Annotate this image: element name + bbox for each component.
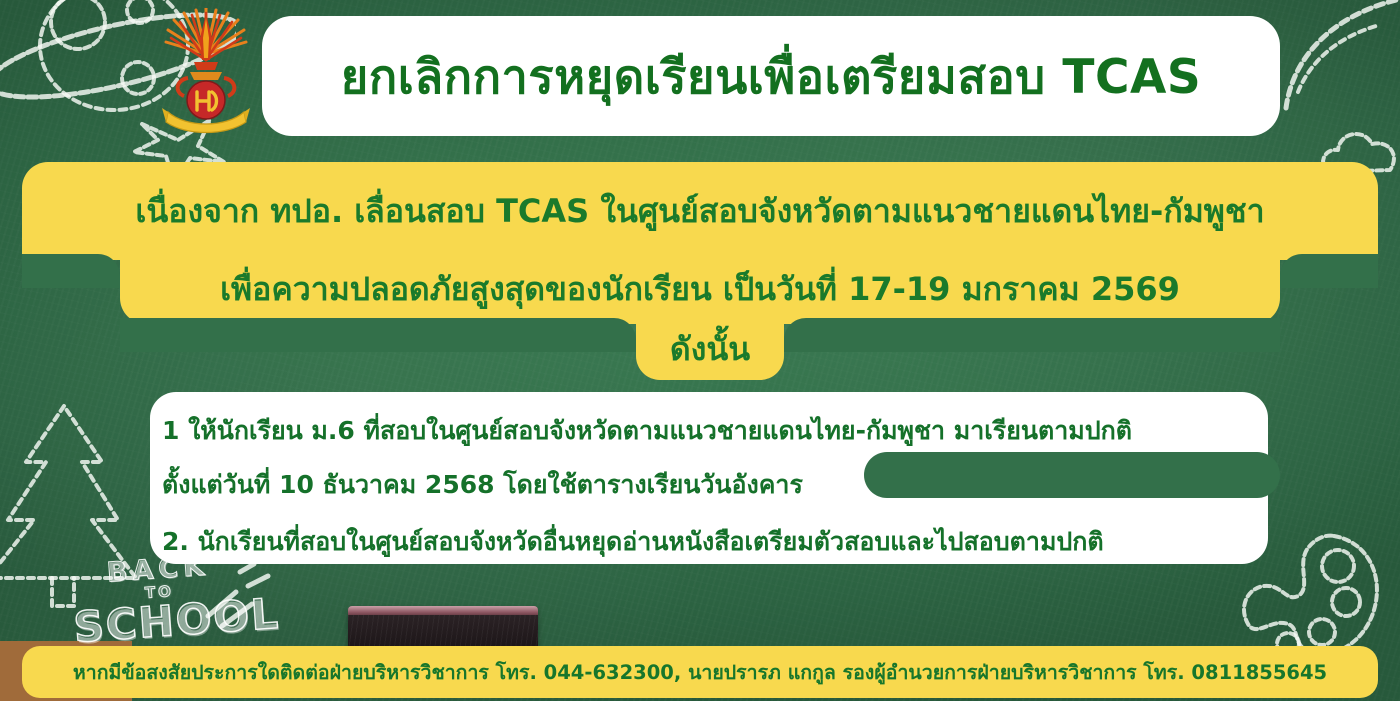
notch-right-upper xyxy=(1280,254,1378,288)
list-item-1-line-2: ตั้งแต่วันที่ 10 ธันวาคม 2568 โดยใช้ตารา… xyxy=(162,472,803,497)
school-emblem-icon xyxy=(158,8,254,136)
page-title: ยกเลิกการหยุดเรียนเพื่อเตรียมสอบ TCAS xyxy=(262,16,1280,136)
items-panel-notch xyxy=(864,452,1280,498)
announcement-poster: BACK TO SCHOOL ยกเลิกการหยุดเรียนเพื่อเต… xyxy=(0,0,1400,701)
notch-left-upper xyxy=(22,254,120,288)
list-item-1-line-1: 1 ให้นักเรียน ม.6 ที่สอบในศูนย์สอบจังหวั… xyxy=(162,418,1132,443)
list-item-2-line-1: 2. นักเรียนที่สอบในศูนย์สอบจังหวัดอื่นหย… xyxy=(162,529,1104,554)
notch-right-lower xyxy=(784,318,1280,352)
eraser-felt-top xyxy=(348,606,538,615)
bts-school-text: SCHOOL xyxy=(72,595,251,649)
notice-line-2: เพื่อความปลอดภัยสูงสุดของนักเรียน เป็นวั… xyxy=(120,254,1280,324)
back-to-school-decoration: BACK TO SCHOOL xyxy=(69,550,251,649)
notice-line-3: ดังนั้น xyxy=(636,318,784,380)
footer-contact-bar: หากมีข้อสงสัยประการใดติดต่อฝ่ายบริหารวิช… xyxy=(22,646,1378,698)
notch-left-lower xyxy=(120,318,636,352)
notice-line-1: เนื่องจาก ทปอ. เลื่อนสอบ TCAS ในศูนย์สอบ… xyxy=(22,162,1378,260)
